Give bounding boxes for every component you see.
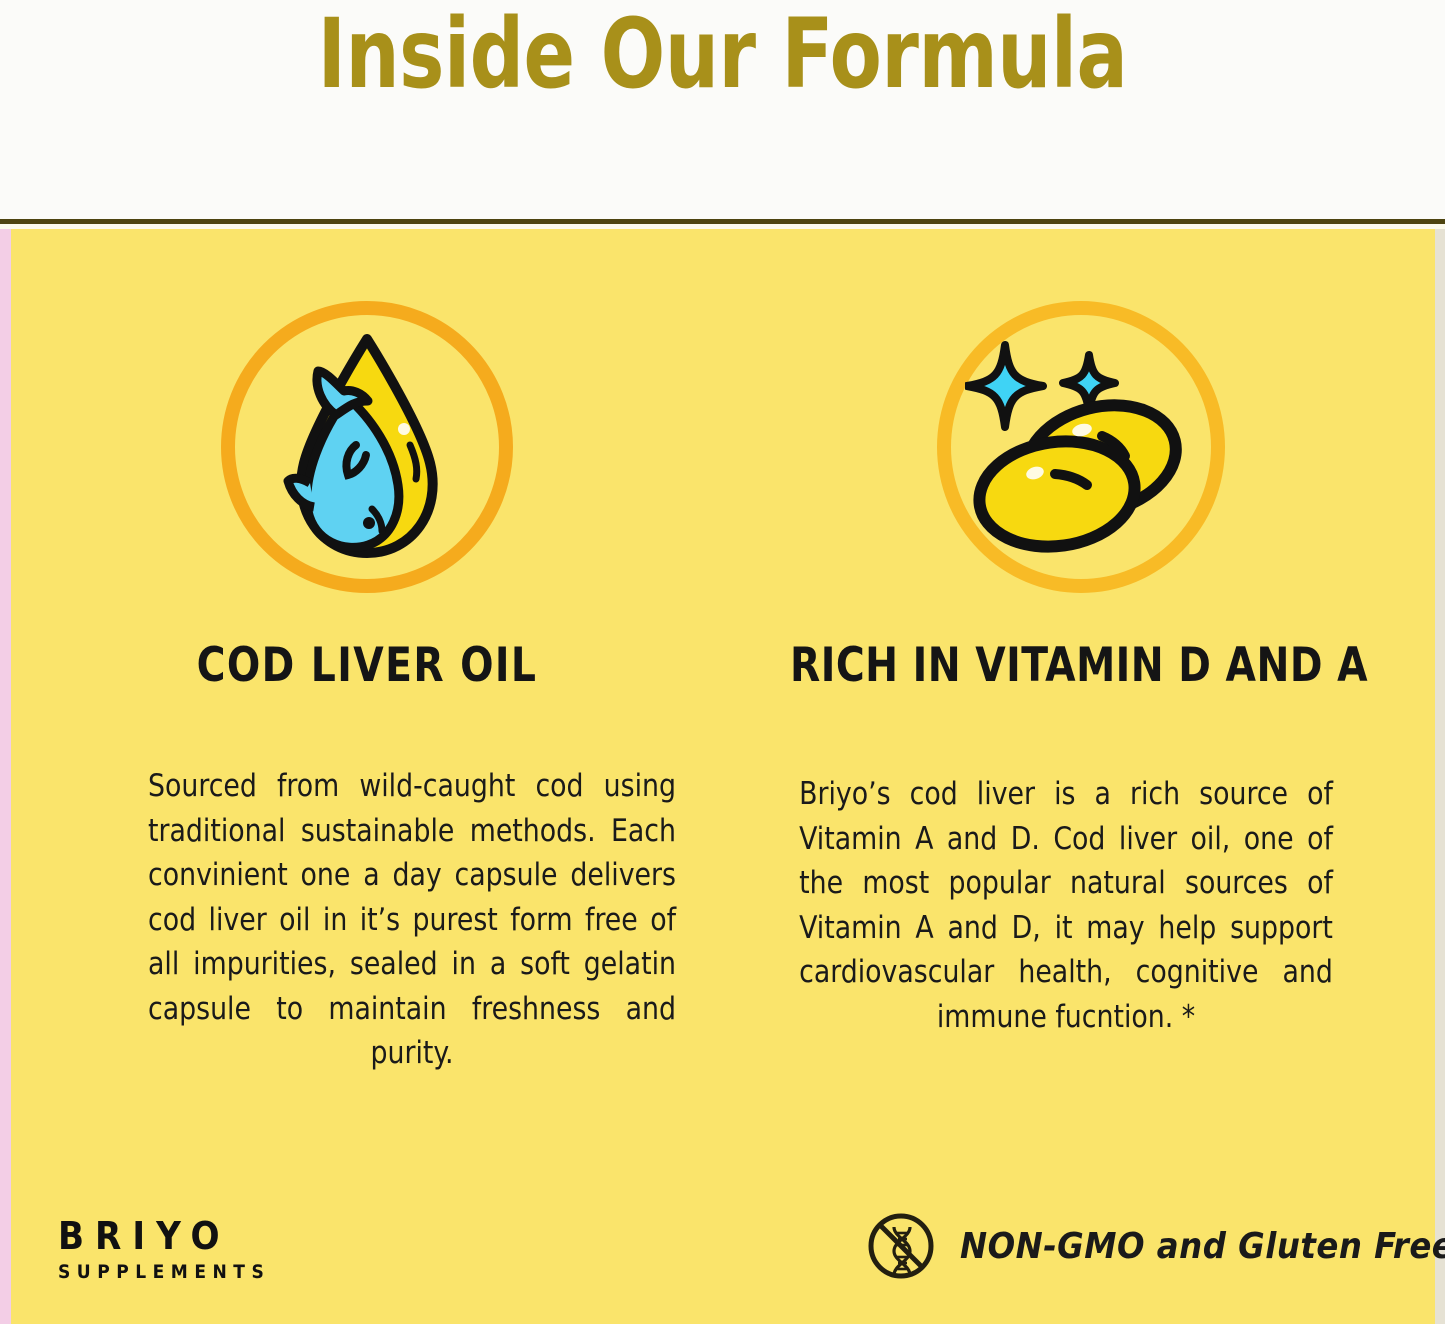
brand-tagline: SUPPLEMENTS [58, 1260, 270, 1284]
feature-body-left: Sourced from wild-caught cod using tradi… [148, 764, 676, 1076]
feature-heading-right: RICH IN VITAMIN D AND A [748, 635, 1410, 697]
panel-left-edge-strip [0, 229, 11, 1324]
panel-right-edge-strip [1435, 229, 1445, 1324]
formula-panel: COD LIVER OIL Sourced from wild-caught c… [0, 229, 1445, 1324]
page-title: Inside Our Formula [87, 2, 1359, 106]
feature-columns: COD LIVER OIL Sourced from wild-caught c… [11, 229, 1435, 1324]
feature-icon-ring-right [937, 301, 1225, 593]
feature-icon-ring-left [221, 301, 513, 593]
feature-column-cod-liver-oil: COD LIVER OIL Sourced from wild-caught c… [11, 229, 723, 1324]
brand-name: BRIYO [58, 1215, 270, 1257]
non-gmo-badge: NON-GMO and Gluten Free [866, 1211, 1445, 1281]
non-gmo-dna-icon [866, 1211, 936, 1281]
feature-body-right: Briyo’s cod liver is a rich source of Vi… [799, 772, 1333, 1039]
brand-logo: BRIYO SUPPLEMENTS [58, 1215, 270, 1284]
page-header: Inside Our Formula [0, 0, 1445, 219]
feature-heading-left: COD LIVER OIL [36, 635, 698, 697]
non-gmo-label: NON-GMO and Gluten Free [960, 1226, 1445, 1267]
fish-oil-droplet-icon [252, 327, 482, 567]
softgel-capsules-sparkle-icon [965, 331, 1197, 563]
feature-column-vitamin-d-a: RICH IN VITAMIN D AND A Briyo’s cod live… [723, 229, 1435, 1324]
